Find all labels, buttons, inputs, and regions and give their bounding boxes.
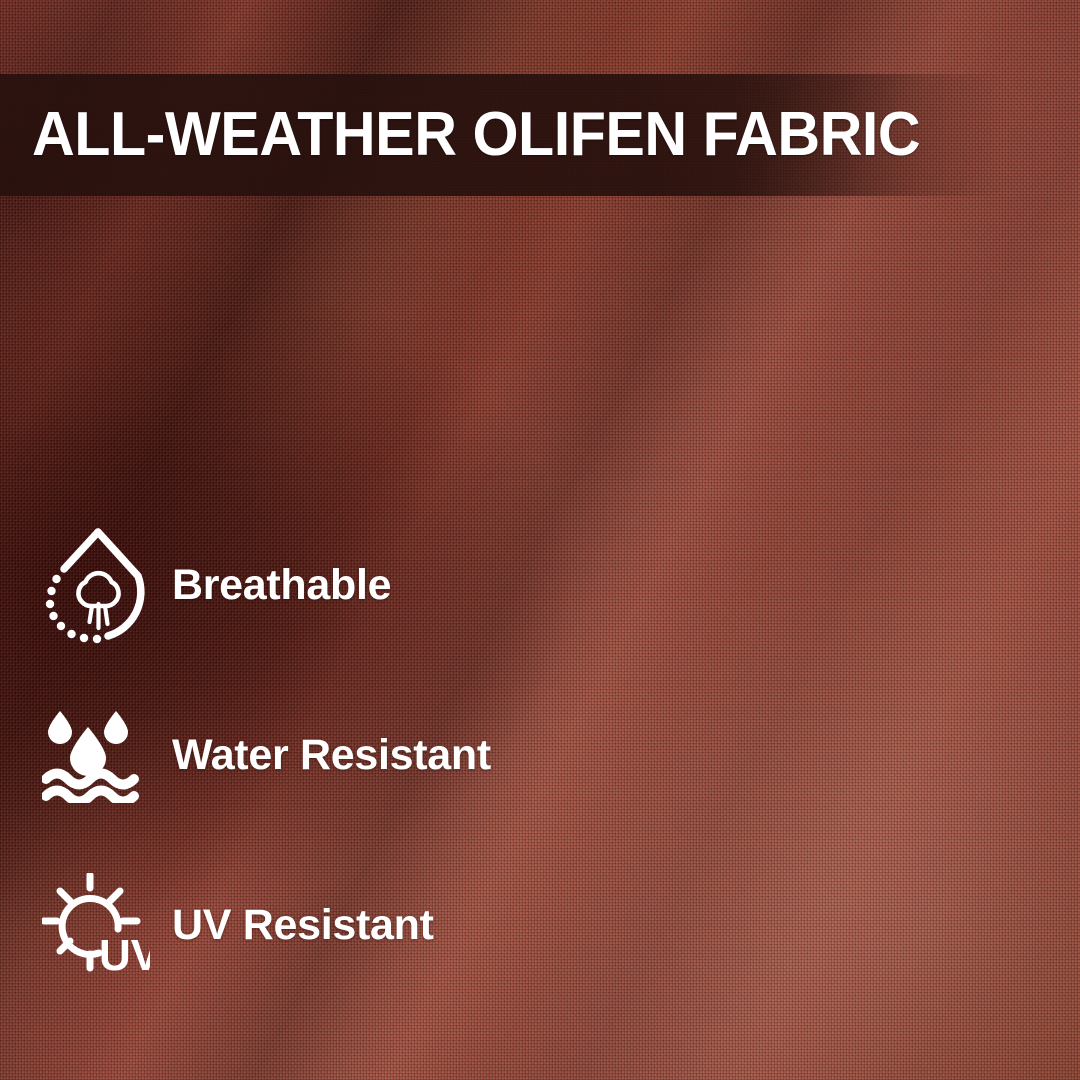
water-droplets-waves-icon	[42, 707, 172, 803]
feature-label-water-resistant: Water Resistant	[172, 734, 491, 777]
uv-icon-text: UV	[99, 931, 150, 977]
feature-item-breathable: Breathable	[0, 500, 700, 670]
title-banner: ALL-WEATHER OLIFEN FABRIC	[0, 74, 1080, 196]
banner-title-text: ALL-WEATHER OLIFEN FABRIC	[32, 104, 920, 166]
feature-list: Breathable Water Resistant	[0, 500, 700, 1010]
feature-item-water-resistant: Water Resistant	[0, 670, 700, 840]
sun-uv-icon: UV	[42, 873, 172, 977]
feature-label-breathable: Breathable	[172, 564, 391, 607]
feature-label-uv-resistant: UV Resistant	[172, 904, 434, 947]
breathable-droplet-tree-icon	[42, 524, 172, 646]
product-feature-image: ALL-WEATHER OLIFEN FABRIC	[0, 0, 1080, 1080]
feature-item-uv-resistant: UV UV Resistant	[0, 840, 700, 1010]
